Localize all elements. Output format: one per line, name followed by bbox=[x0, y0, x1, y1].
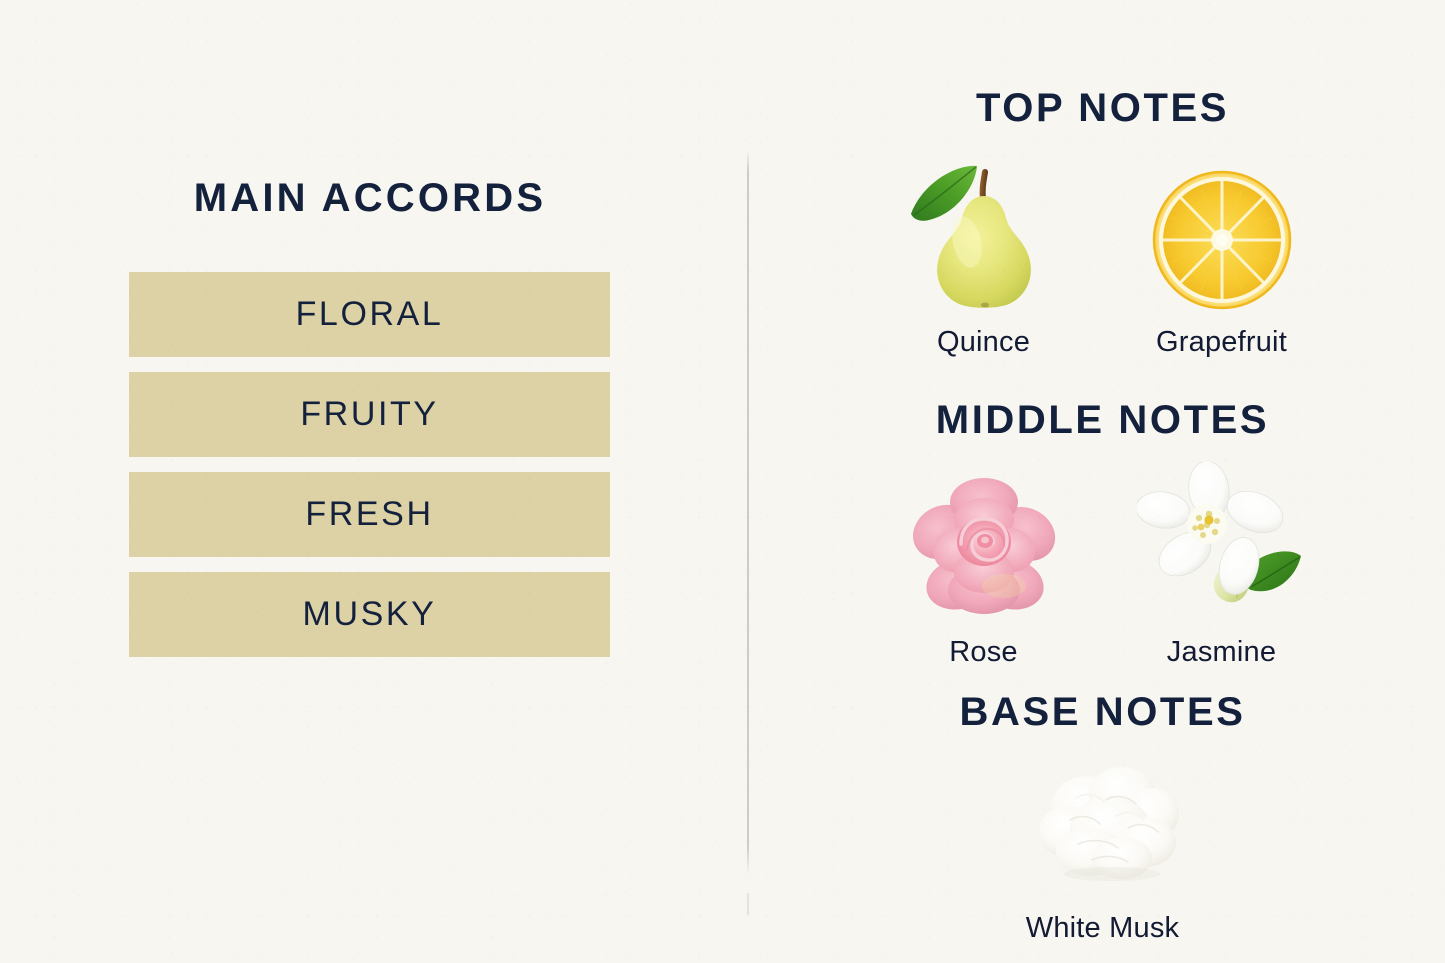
accord-bar-musky: MUSKY bbox=[129, 572, 610, 657]
note-item-white-musk: White Musk bbox=[1008, 748, 1198, 945]
note-label: Jasmine bbox=[1167, 636, 1276, 669]
base-notes-heading: BASE NOTES bbox=[760, 690, 1445, 735]
main-accords-panel: MAIN ACCORDS FLORAL FRUITY FRESH MUSKY bbox=[0, 0, 740, 963]
vertical-divider-tail bbox=[747, 893, 749, 915]
notes-panel: TOP NOTES bbox=[760, 0, 1445, 963]
top-notes-row: Quince bbox=[760, 152, 1445, 359]
note-item-rose: Rose bbox=[889, 462, 1079, 669]
rose-flower-icon bbox=[899, 462, 1069, 630]
citrus-slice-icon bbox=[1137, 152, 1307, 320]
vertical-divider bbox=[747, 150, 749, 875]
pear-quince-icon bbox=[899, 152, 1069, 320]
top-notes-heading: TOP NOTES bbox=[760, 86, 1445, 131]
accord-bar-fresh: FRESH bbox=[129, 472, 610, 557]
note-item-quince: Quince bbox=[889, 152, 1079, 359]
note-label: Rose bbox=[949, 636, 1018, 669]
fragrance-profile-canvas: MAIN ACCORDS FLORAL FRUITY FRESH MUSKY T… bbox=[0, 0, 1445, 963]
accord-bar-list: FLORAL FRUITY FRESH MUSKY bbox=[129, 272, 610, 672]
note-item-grapefruit: Grapefruit bbox=[1127, 152, 1317, 359]
note-label: Grapefruit bbox=[1156, 326, 1287, 359]
main-accords-title: MAIN ACCORDS bbox=[0, 176, 740, 221]
base-notes-row: White Musk bbox=[760, 748, 1445, 945]
note-label: White Musk bbox=[1026, 912, 1179, 945]
accord-bar-label: FRUITY bbox=[300, 395, 438, 434]
accord-bar-label: FLORAL bbox=[296, 295, 444, 334]
note-item-jasmine: Jasmine bbox=[1127, 462, 1317, 669]
accord-bar-fruity: FRUITY bbox=[129, 372, 610, 457]
middle-notes-row: Rose bbox=[760, 462, 1445, 669]
note-label: Quince bbox=[937, 326, 1030, 359]
accord-bar-label: MUSKY bbox=[303, 595, 437, 634]
accord-bar-label: FRESH bbox=[305, 495, 433, 534]
accord-bar-floral: FLORAL bbox=[129, 272, 610, 357]
middle-notes-heading: MIDDLE NOTES bbox=[760, 398, 1445, 443]
cotton-musk-icon bbox=[1018, 748, 1188, 898]
jasmine-flower-icon bbox=[1137, 462, 1307, 630]
